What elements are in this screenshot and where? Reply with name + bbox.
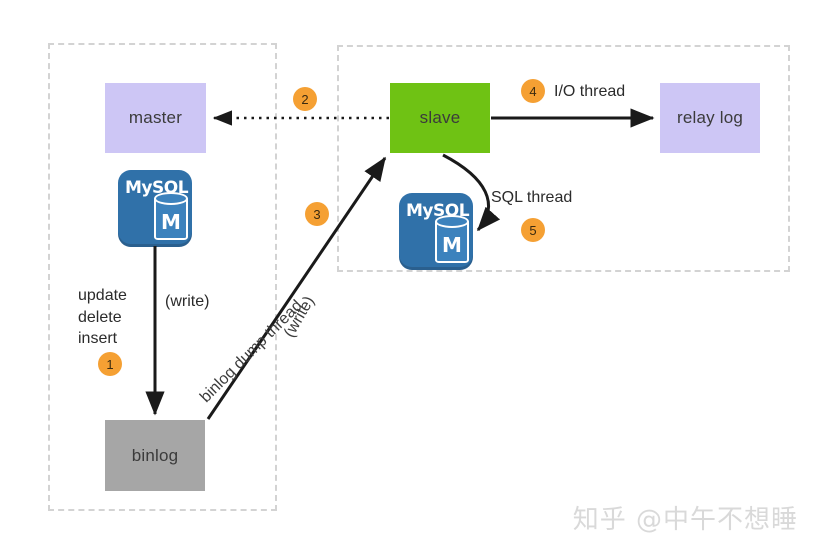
badge-step-5: 5 — [521, 218, 545, 242]
label-sql-thread: SQL thread — [491, 189, 572, 207]
mysql-cylinder-top-icon — [154, 192, 188, 205]
badge-step-3-label: 3 — [313, 208, 320, 221]
label-io-thread: I/O thread — [554, 83, 625, 101]
node-master-label: master — [129, 108, 182, 128]
node-slave[interactable]: slave — [390, 83, 490, 153]
badge-step-3: 3 — [305, 202, 329, 226]
node-master[interactable]: master — [105, 83, 206, 153]
mysql-logo-slave: MySQL M — [399, 193, 473, 267]
node-binlog[interactable]: binlog — [105, 420, 205, 491]
node-slave-label: slave — [420, 108, 461, 128]
node-relay-log-label: relay log — [677, 108, 743, 128]
badge-step-5-label: 5 — [529, 224, 536, 237]
node-relay-log[interactable]: relay log — [660, 83, 760, 153]
watermark: 知乎 @中午不想睡 — [573, 499, 798, 536]
label-sql-op-update: update — [78, 285, 158, 307]
mysql-cylinder-letter: M — [154, 210, 188, 234]
label-sql-op-insert: insert — [78, 328, 158, 350]
node-binlog-label: binlog — [132, 446, 179, 466]
badge-step-2-label: 2 — [301, 93, 308, 106]
label-sql-operations: update delete insert — [78, 285, 158, 350]
mysql-logo-master: MySQL M — [118, 170, 192, 244]
mysql-cylinder-top-icon — [435, 215, 469, 228]
mysql-cylinder-letter: M — [435, 233, 469, 257]
badge-step-4-label: 4 — [529, 85, 536, 98]
badge-step-2: 2 — [293, 87, 317, 111]
badge-step-4: 4 — [521, 79, 545, 103]
badge-step-1-label: 1 — [106, 358, 113, 371]
badge-step-1: 1 — [98, 352, 122, 376]
label-sql-op-delete: delete — [78, 307, 158, 329]
diagram-canvas: master slave relay log binlog MySQL M My… — [0, 0, 816, 544]
label-write-master: (write) — [165, 293, 209, 311]
